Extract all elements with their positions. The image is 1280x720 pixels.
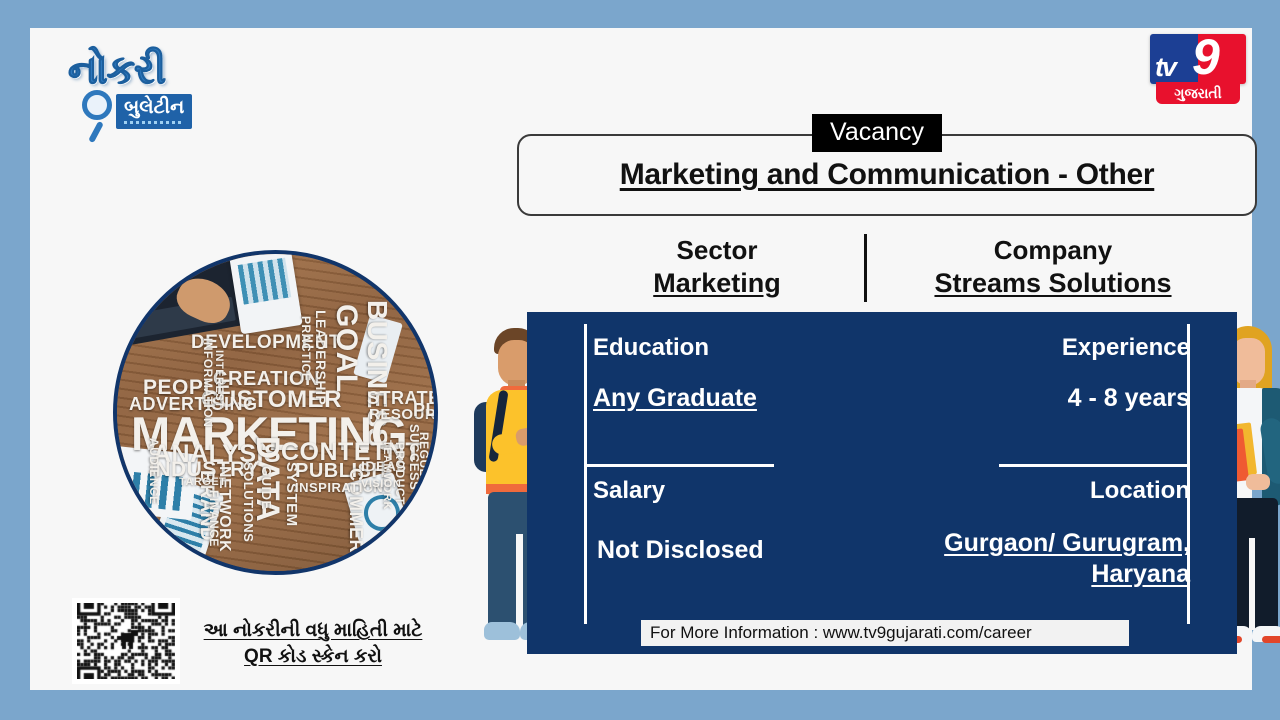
qr-caption-line2: QR કોડ સ્કેન કરો	[194, 644, 432, 670]
male-left-shoe-shape	[484, 622, 520, 640]
bulletin-logo-wordmark: નોકરી	[68, 50, 238, 90]
more-information-bar[interactable]: For More Information : www.tv9gujarati.c…	[641, 620, 1129, 646]
qr-caption-line1: આ નોકરીની વધુ માહિતી માટે	[194, 618, 432, 644]
location-label: Location	[907, 477, 1190, 505]
word-target: TARGET	[179, 476, 226, 488]
magnifier-icon	[82, 90, 112, 120]
sector-company-divider	[864, 234, 867, 302]
tv9-logo-box: tv 9	[1150, 34, 1246, 84]
poster-card: નોકરી બુલેટીન tv 9 ગુજરાતી	[30, 28, 1252, 690]
page-title: Marketing and Communication - Other	[519, 158, 1255, 192]
word-interest: INTEREST	[213, 350, 225, 408]
badge-dots-decoration	[124, 121, 184, 124]
salary-top-rule	[584, 464, 774, 467]
salary-label: Salary	[593, 477, 665, 505]
panel-left-rule	[584, 324, 587, 624]
word-finance: FINANCE	[207, 490, 221, 547]
bulletin-logo-badge: બુલેટીન	[116, 94, 192, 129]
word-cloud-text-layer: DEVELOPMENT CREATION CUSTOMER GOAL BUSIN…	[117, 254, 434, 571]
experience-label: Experience	[907, 334, 1190, 362]
sector-value: Marketing	[570, 267, 864, 301]
sector-label: Sector	[570, 234, 864, 267]
qr-code-canvas[interactable]	[77, 603, 175, 679]
word-plan: PLAN	[413, 400, 438, 421]
qr-caption: આ નોકરીની વધુ માહિતી માટે QR કોડ સ્કેન ક…	[194, 618, 432, 669]
word-solutions: SOLUTIONS	[241, 462, 256, 542]
tv9-gujarati-logo: tv 9 ગુજરાતી	[1150, 34, 1246, 106]
company-value: Streams Solutions	[898, 267, 1208, 301]
company-label: Company	[898, 234, 1208, 267]
bulletin-logo-subrow: બુલેટીન	[68, 94, 238, 136]
education-label: Education	[593, 334, 709, 362]
word-regulation: REGULATION	[417, 432, 431, 515]
experience-value: 4 - 8 years	[907, 384, 1190, 413]
marketing-word-cloud-image: DEVELOPMENT CREATION CUSTOMER GOAL BUSIN…	[113, 250, 438, 575]
company-block: Company Streams Solutions	[898, 234, 1208, 300]
location-top-rule	[999, 464, 1190, 467]
word-teamwork: TEAMWORK	[381, 440, 393, 510]
bulletin-badge-text: બુલેટીન	[124, 97, 184, 118]
word-goal: GOAL	[329, 304, 363, 393]
word-audience: AUDIENCE	[147, 438, 161, 505]
tv9-number-text: 9	[1192, 34, 1220, 82]
nokri-bulletin-logo: નોકરી બુલેટીન	[68, 50, 238, 160]
tv9-language-banner: ગુજરાતી	[1156, 82, 1240, 104]
salary-value: Not Disclosed	[597, 536, 764, 565]
vacancy-badge: Vacancy	[812, 114, 942, 152]
female-right-hand-shape	[1246, 474, 1270, 490]
word-practice: PRACTICE	[299, 316, 313, 381]
female-right-sole-shape	[1262, 636, 1280, 643]
word-guide: GUIDE	[259, 466, 274, 510]
tv9-tv-text: tv	[1155, 54, 1175, 81]
word-vision: VISION	[361, 478, 401, 490]
sector-block: Sector Marketing	[570, 234, 864, 300]
education-value: Any Graduate	[593, 384, 757, 413]
female-leg-gap-shape	[1249, 538, 1255, 630]
poster-canvas: નોકરી બુલેટીન tv 9 ગુજરાતી	[0, 0, 1280, 720]
male-leg-gap-shape	[516, 534, 523, 626]
location-value: Gurgaon/ Gurugram, Haryana	[867, 528, 1190, 591]
qr-section: આ નોકરીની વધુ માહિતી માટે QR કોડ સ્કેન ક…	[72, 598, 432, 684]
qr-code[interactable]	[72, 598, 180, 684]
job-details-panel: Education Any Graduate Experience 4 - 8 …	[527, 312, 1237, 654]
word-leadership: LEADERSHIP	[313, 310, 329, 405]
word-product: PRODUCT	[393, 442, 407, 505]
